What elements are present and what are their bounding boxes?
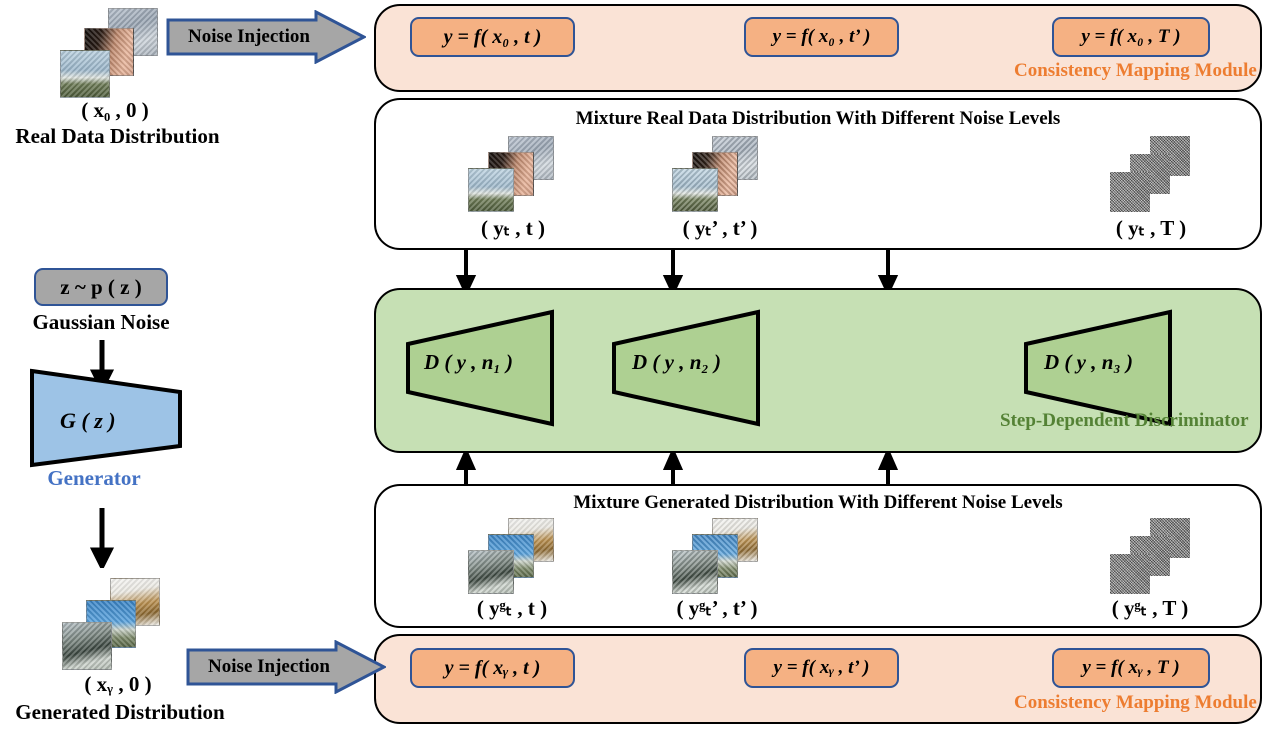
thumbnail	[60, 50, 110, 98]
real-image-stack-2	[672, 136, 764, 214]
formula-pill-bottom-1[interactable]: y = f( xᵧ , t )	[410, 648, 575, 688]
real-data-caption: Real Data Distribution	[5, 124, 230, 149]
noise-tile	[1110, 172, 1150, 212]
gaussian-noise-caption: Gaussian Noise	[16, 310, 186, 335]
generator-label: G ( z )	[60, 408, 116, 434]
real-data-tuple-label: ( x₀ , 0 )	[35, 98, 195, 123]
generated-image-stack-1	[468, 518, 560, 596]
bottom-consistency-module-caption: Consistency Mapping Module	[1014, 692, 1257, 714]
formula-pill-bottom-2[interactable]: y = f( xᵧ , t’ )	[744, 648, 899, 688]
formula-text: y = f( x₀ , t’ )	[773, 26, 871, 48]
top-consistency-module-caption: Consistency Mapping Module	[1014, 60, 1257, 82]
real-data-source-stack	[60, 8, 170, 100]
arrow-generator-to-generated	[90, 508, 114, 568]
generated-stack-label-2: ( yᵍₜ’ , t’ )	[632, 596, 802, 621]
noise-injection-arrow-top[interactable]: Noise Injection	[166, 10, 366, 64]
generated-noise-stack-3	[1110, 518, 1202, 596]
thumbnail	[468, 550, 514, 594]
mixture-generated-title: Mixture Generated Distribution With Diff…	[376, 492, 1260, 514]
noise-injection-arrow-bottom[interactable]: Noise Injection	[186, 640, 386, 694]
thumbnail	[468, 168, 514, 212]
generator-caption: Generator	[24, 466, 164, 491]
formula-text: y = f( x₀ , T )	[1081, 26, 1180, 48]
noise-injection-label: Noise Injection	[166, 10, 366, 64]
thumbnail	[672, 168, 718, 212]
discriminator-caption: Step-Dependent Discriminator	[1000, 410, 1249, 432]
formula-text: y = f( xᵧ , t )	[445, 657, 541, 680]
generated-stack-label-3: ( yᵍₜ , T )	[1070, 596, 1230, 621]
formula-pill-top-1[interactable]: y = f( x₀ , t )	[410, 17, 575, 57]
mixture-real-data-title: Mixture Real Data Distribution With Diff…	[376, 108, 1260, 130]
discriminator-label-3: D ( y , n₃ )	[1044, 350, 1133, 375]
thumbnail	[672, 550, 718, 594]
formula-text: y = f( x₀ , t )	[444, 26, 542, 49]
generated-data-caption: Generated Distribution	[0, 700, 240, 725]
gaussian-noise-formula: z ~ p ( z )	[60, 275, 141, 300]
generated-image-stack-2	[672, 518, 764, 596]
discriminator-label-2: D ( y , n₂ )	[632, 350, 721, 375]
real-stack-label-1: ( yₜ , t )	[438, 216, 588, 241]
generated-data-source-stack	[62, 578, 174, 672]
real-stack-label-2: ( yₜ’ , t’ )	[640, 216, 800, 241]
formula-pill-top-3[interactable]: y = f( x₀ , T )	[1052, 17, 1210, 57]
formula-text: y = f( xᵧ , T )	[1082, 657, 1179, 679]
real-stack-label-3: ( yₜ , T )	[1076, 216, 1226, 241]
generated-data-tuple-label: ( xᵧ , 0 )	[38, 672, 198, 697]
formula-pill-top-2[interactable]: y = f( x₀ , t’ )	[744, 17, 899, 57]
real-image-stack-1	[468, 136, 560, 214]
thumbnail	[62, 622, 112, 670]
discriminator-label-1: D ( y , n₁ )	[424, 350, 513, 375]
diagram-canvas: y = f( x₀ , t ) y = f( x₀ , t’ ) y = f( …	[0, 0, 1268, 736]
formula-text: y = f( xᵧ , t’ )	[774, 657, 870, 679]
noise-tile	[1110, 554, 1150, 594]
formula-pill-bottom-3[interactable]: y = f( xᵧ , T )	[1052, 648, 1210, 688]
real-noise-stack-3	[1110, 136, 1202, 214]
gaussian-noise-pill[interactable]: z ~ p ( z )	[34, 268, 168, 306]
generated-stack-label-1: ( yᵍₜ , t )	[432, 596, 592, 621]
noise-injection-label: Noise Injection	[186, 640, 386, 694]
